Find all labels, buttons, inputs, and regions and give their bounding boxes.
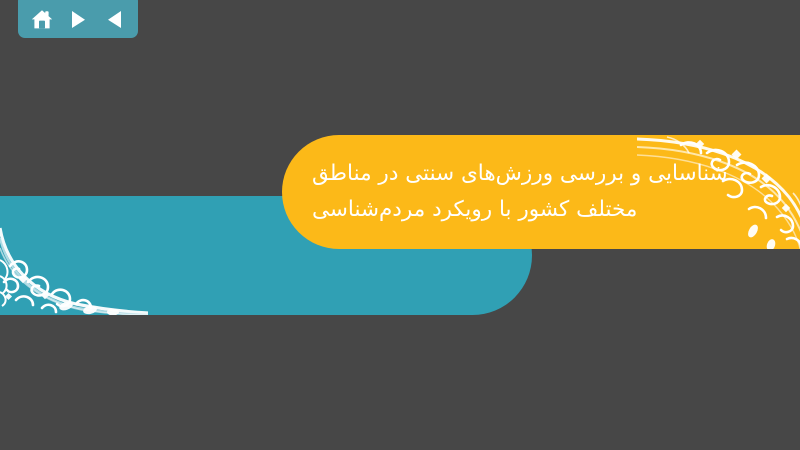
title-line-2: مختلف کشور با رویکرد مردم‌شناسی [312, 192, 637, 228]
next-slide-button[interactable] [63, 5, 93, 33]
home-slide-button[interactable] [27, 5, 57, 33]
presentation-slide: شناسایی و بررسی ورزش‌های سنتی در مناطق م… [0, 0, 800, 450]
triangle-left-icon [106, 10, 123, 29]
slide-title: شناسایی و بررسی ورزش‌های سنتی در مناطق م… [282, 135, 800, 249]
triangle-right-icon [71, 10, 86, 29]
title-banner: شناسایی و بررسی ورزش‌های سنتی در مناطق م… [282, 135, 800, 249]
previous-slide-button[interactable] [99, 5, 129, 33]
title-line-1: شناسایی و بررسی ورزش‌های سنتی در مناطق [312, 156, 728, 192]
home-icon [31, 9, 53, 30]
accent-band-arabesque-ornament [0, 220, 148, 315]
navigation-toolbar [18, 0, 138, 38]
